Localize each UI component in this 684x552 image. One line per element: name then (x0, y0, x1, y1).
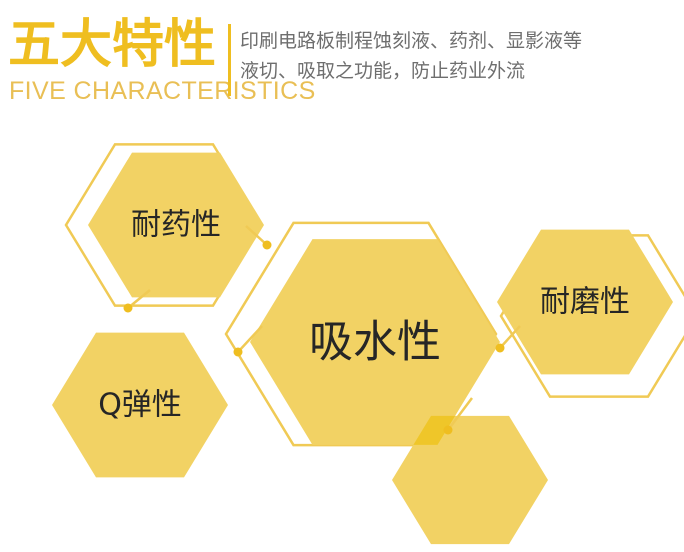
hex-naiyaoxing-dot-marker (263, 241, 272, 250)
hex-qtanxing-label: Q弹性 (98, 388, 182, 423)
header-description: 印刷电路板制程蚀刻液、药剂、显影液等 液切、吸取之功能，防止药业外流 (240, 26, 670, 86)
hex-blank-dot-marker (444, 426, 453, 435)
hex-xishuixing-dot-marker (234, 348, 243, 357)
header-banner: 五大特性 FIVE CHARACTERISTICS 印刷电路板制程蚀刻液、药剂、… (0, 0, 684, 130)
hex-naiyaoxing-label: 耐药性 (131, 208, 221, 243)
title-divider (228, 24, 231, 96)
page-title: 五大特性 (8, 14, 216, 76)
hexagon-canvas: 耐药性Q弹性吸水性耐磨性 (0, 130, 684, 552)
header-description-line-2: 液切、吸取之功能，防止药业外流 (240, 56, 670, 86)
title-block: 五大特性 FIVE CHARACTERISTICS (8, 14, 224, 118)
hex-naimoxing-label: 耐磨性 (540, 285, 630, 320)
hexagon-diagram: 耐药性Q弹性吸水性耐磨性 (0, 130, 684, 552)
header-description-line-1: 印刷电路板制程蚀刻液、药剂、显影液等 (240, 26, 670, 56)
hex-qtanxing-dot-marker (124, 304, 133, 313)
hex-xishuixing-label: 吸水性 (309, 317, 441, 368)
hex-naimoxing-dot-marker (496, 344, 505, 353)
